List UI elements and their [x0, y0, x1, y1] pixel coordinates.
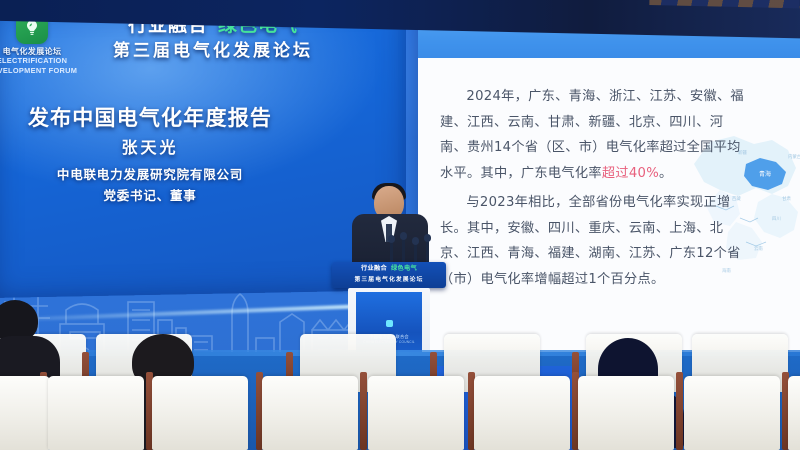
svg-text:内蒙古: 内蒙古: [788, 153, 800, 160]
chair-front-row[interactable]: [788, 376, 800, 450]
chair-frame: [676, 372, 683, 450]
chair-frame: [360, 372, 367, 450]
chair-front-row[interactable]: [474, 376, 570, 450]
podium-banner-line1: 行业融合绿色电气: [332, 265, 446, 273]
right-projection-screen: 青海 新疆 内蒙古 西藏 甘肃 四川 云南 海南 20: [418, 2, 800, 361]
chair-front-row[interactable]: [0, 376, 50, 450]
para1-highlight: 超过40%: [602, 166, 659, 181]
para1-seg1: 2024年，广东、青海、浙江、江苏、安徽、福建、江西、云南、甘肃、新疆、北京、四…: [440, 89, 744, 181]
slide-paragraph-2: 与2023年相比，全部省份电气化率实现正增长。其中，安徽、四川、重庆、云南、上海…: [440, 190, 750, 292]
podium-banner-line1-green: 绿色电气: [391, 265, 417, 272]
chair-front-row[interactable]: [578, 376, 674, 450]
svg-text:青海: 青海: [759, 170, 771, 178]
slide-organization: 中电联电力发展研究院有限公司: [0, 166, 306, 185]
slide-title: 发布中国电气化年度报告: [0, 102, 306, 132]
banner-line2: 第三届电气化发展论坛: [78, 39, 348, 63]
chair-front-row[interactable]: [368, 376, 464, 450]
ceiling-light-strip: [649, 0, 799, 8]
conference-photo: 电气化发展论坛 ELECTRIFICATION DEVELOPMENT FORU…: [0, 0, 800, 450]
council-emblem-icon: [386, 320, 393, 327]
forum-logo-en-line2: DEVELOPMENT FORUM: [0, 66, 84, 76]
podium-banner-line1-white: 行业融合: [361, 265, 387, 272]
chair-front-row[interactable]: [262, 376, 358, 450]
podium-banner-line2: 第三届电气化发展论坛: [332, 274, 446, 283]
chair-front-row[interactable]: [48, 376, 144, 450]
slide-paragraph-1: 2024年，广东、青海、浙江、江苏、安徽、福建、江西、云南、甘肃、新疆、北京、四…: [440, 84, 750, 186]
forum-logo-en-text: ELECTRIFICATION DEVELOPMENT FORUM: [0, 56, 84, 76]
slide-speaker-name: 张天光: [0, 134, 306, 158]
podium-banner-plate: 行业融合绿色电气 第三届电气化发展论坛: [332, 262, 446, 288]
chair-front-row[interactable]: [152, 376, 248, 450]
svg-text:四川: 四川: [772, 216, 781, 222]
svg-text:甘肃: 甘肃: [782, 195, 791, 202]
para1-seg3: 。: [659, 166, 673, 181]
chair-front-row[interactable]: [684, 376, 780, 450]
slide-body-text: 2024年，广东、青海、浙江、江苏、安徽、福建、江西、云南、甘肃、新疆、北京、四…: [440, 84, 750, 296]
para2-seg1: 与2023年相比，全部省份电气化率实现正增长。其中，安徽、四川、重庆、云南、上海…: [440, 195, 741, 287]
slide-speaker-role: 党委书记、董事: [0, 185, 306, 204]
forum-logo-en-line1: ELECTRIFICATION: [0, 56, 84, 66]
